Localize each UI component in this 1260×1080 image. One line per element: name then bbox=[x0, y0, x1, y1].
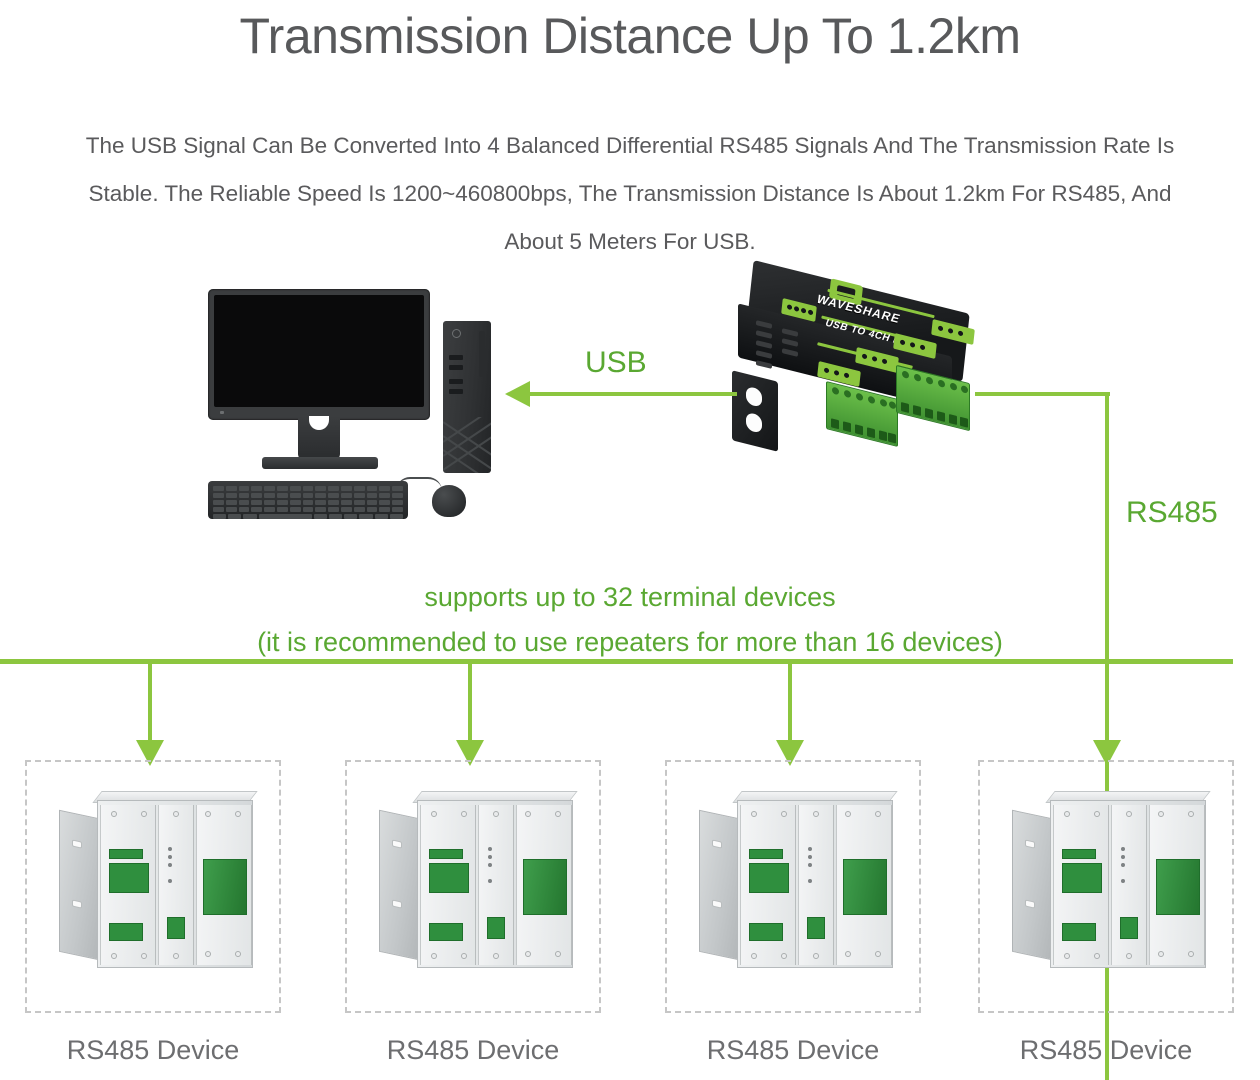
device-label-4: RS485 Device bbox=[978, 1033, 1234, 1067]
device-body bbox=[1050, 800, 1206, 968]
device-panel-2 bbox=[1111, 805, 1147, 965]
device-side-bracket bbox=[1012, 810, 1052, 961]
usb-arrow-icon bbox=[505, 381, 530, 407]
device-label-3: RS485 Device bbox=[665, 1033, 921, 1067]
usb-slot-icon bbox=[449, 365, 463, 370]
page-description: The USB Signal Can Be Converted Into 4 B… bbox=[60, 122, 1200, 266]
usb-connection-line bbox=[525, 392, 737, 396]
rs485-bus-line bbox=[0, 659, 1233, 664]
mouse-icon bbox=[432, 485, 466, 517]
rs485-line-horizontal bbox=[975, 392, 1110, 396]
usb-slot-icon bbox=[449, 379, 463, 384]
mounting-bracket bbox=[732, 370, 778, 451]
device-side-bracket bbox=[59, 810, 99, 961]
device-panel-3 bbox=[196, 805, 252, 965]
computer-workstation-illustration bbox=[200, 285, 500, 525]
usb-to-4ch-rs485-module: WAVESHARE USB TO 4CH RS485 bbox=[720, 278, 1020, 478]
device-label-2: RS485 Device bbox=[345, 1033, 601, 1067]
device-box-4 bbox=[978, 760, 1234, 1013]
note-terminal-devices: supports up to 32 terminal devices bbox=[0, 580, 1260, 614]
device-label-1: RS485 Device bbox=[25, 1033, 281, 1067]
device-panel-1 bbox=[420, 805, 476, 965]
device-box-1 bbox=[25, 760, 281, 1013]
monitor-icon bbox=[208, 289, 430, 420]
drop-line-device-1 bbox=[148, 659, 152, 744]
monitor-bezel-bottom bbox=[214, 409, 424, 416]
device-panel-3 bbox=[836, 805, 892, 965]
device-body bbox=[417, 800, 573, 968]
device-panel-1 bbox=[100, 805, 156, 965]
monitor-stand-neck bbox=[298, 418, 340, 460]
device-panel-3 bbox=[1149, 805, 1205, 965]
drop-line-device-3 bbox=[788, 659, 792, 744]
device-panel-2 bbox=[478, 805, 514, 965]
bracket-slot bbox=[746, 412, 762, 434]
device-body bbox=[737, 800, 893, 968]
rs485-label: RS485 bbox=[1126, 495, 1218, 531]
device-box-3 bbox=[665, 760, 921, 1013]
monitor-stand-base bbox=[262, 457, 378, 469]
device-box-2 bbox=[345, 760, 601, 1013]
device-side-bracket bbox=[379, 810, 419, 961]
rs485-device-illustration bbox=[59, 800, 255, 968]
device-panel-2 bbox=[158, 805, 194, 965]
page-title: Transmission Distance Up To 1.2km bbox=[0, 6, 1260, 66]
device-panel-3 bbox=[516, 805, 572, 965]
monitor-power-led bbox=[220, 411, 224, 414]
drop-line-device-2 bbox=[468, 659, 472, 744]
usb-slot-icon bbox=[449, 389, 463, 394]
infographic-page: Transmission Distance Up To 1.2km The US… bbox=[0, 0, 1260, 1080]
rs485-device-illustration bbox=[699, 800, 895, 968]
rs485-device-illustration bbox=[1012, 800, 1208, 968]
tower-vent bbox=[479, 331, 485, 377]
bracket-slot bbox=[746, 386, 762, 408]
device-panel-2 bbox=[798, 805, 834, 965]
usb-slot-icon bbox=[449, 355, 463, 360]
tower-chevron-pattern bbox=[443, 417, 491, 473]
desktop-tower-icon bbox=[443, 321, 491, 473]
rs485-device-illustration bbox=[379, 800, 575, 968]
keyboard-icon bbox=[208, 481, 408, 519]
monitor-screen bbox=[214, 295, 424, 407]
power-button-icon bbox=[452, 329, 461, 338]
device-body bbox=[97, 800, 253, 968]
usb-label: USB bbox=[585, 345, 647, 381]
device-side-bracket bbox=[699, 810, 739, 961]
device-panel-1 bbox=[740, 805, 796, 965]
device-panel-1 bbox=[1053, 805, 1109, 965]
note-repeaters: (it is recommended to use repeaters for … bbox=[0, 625, 1260, 659]
